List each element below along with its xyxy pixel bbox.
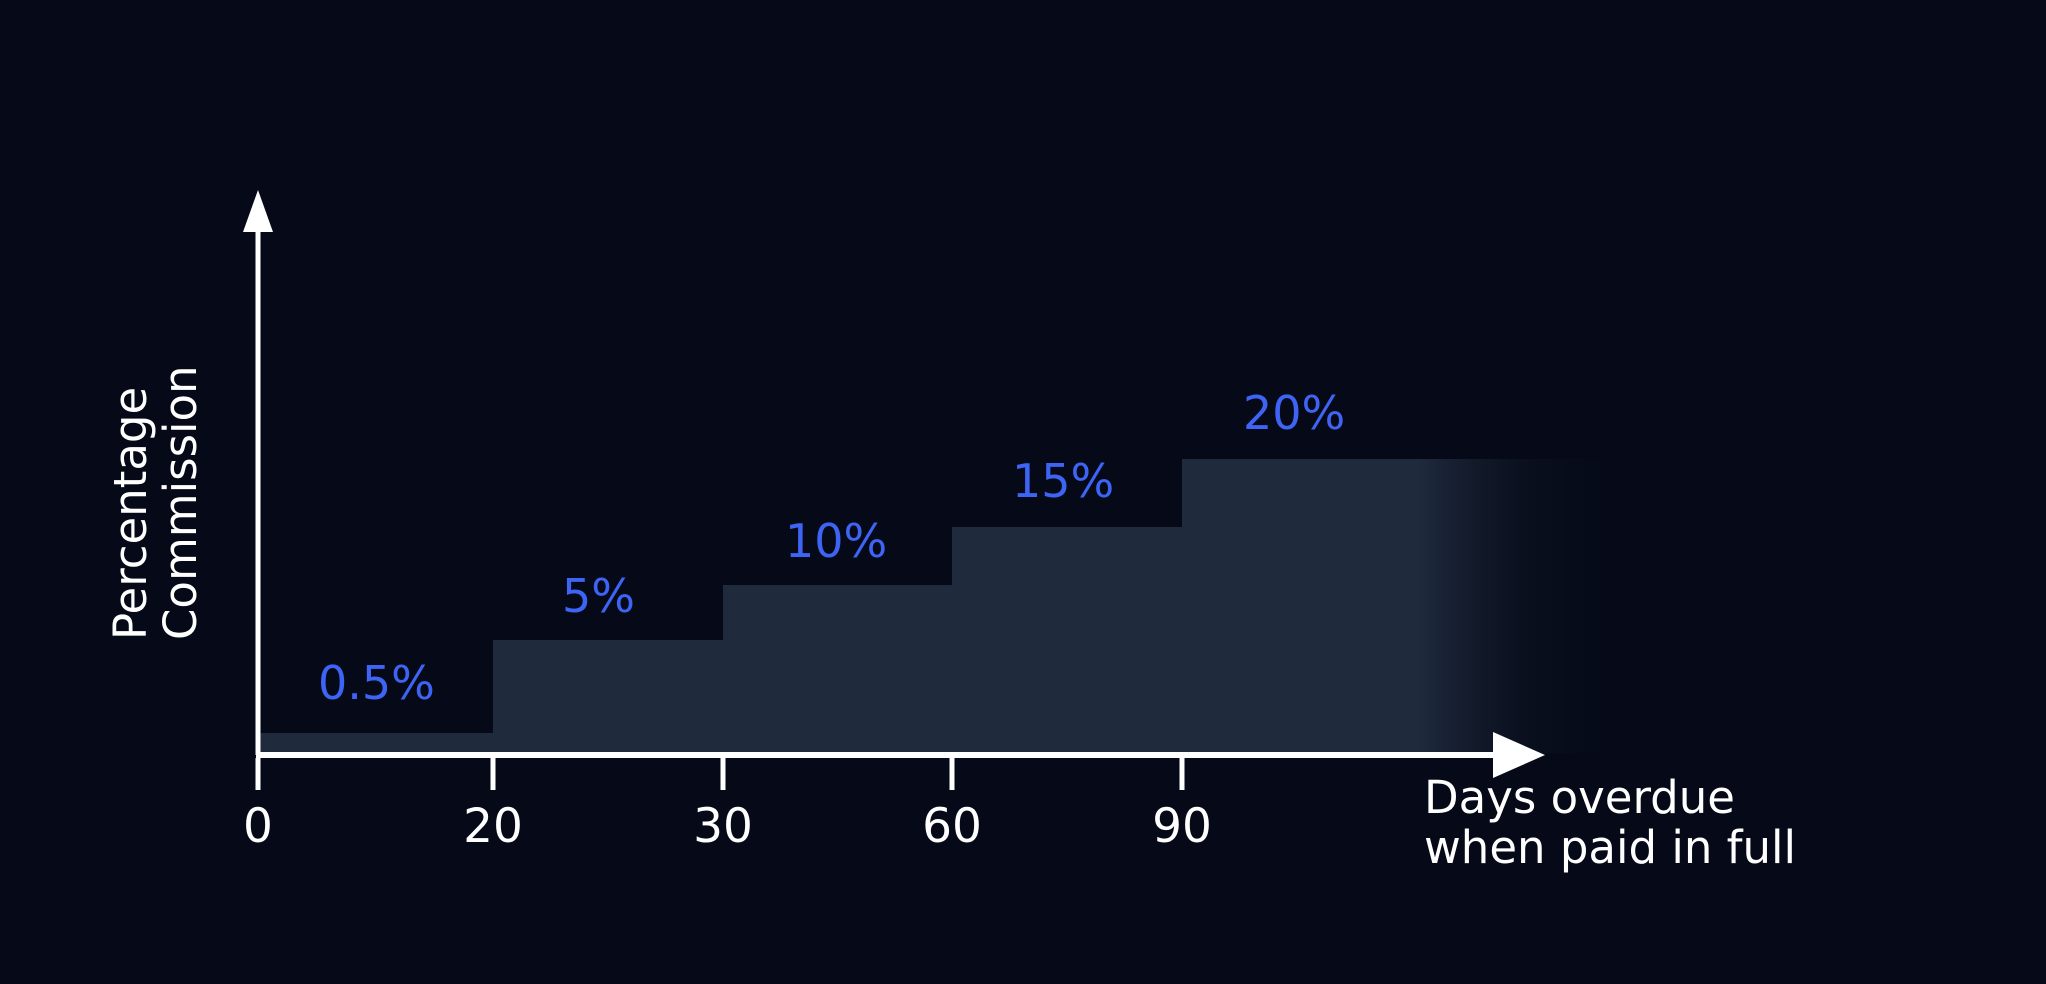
x-tick-label-60: 60	[922, 803, 982, 850]
data-label-step-1: 5%	[562, 573, 635, 619]
y-axis-arrowhead	[243, 190, 273, 232]
data-label-step-0: 0.5%	[318, 660, 435, 706]
x-axis-ticks	[258, 758, 1182, 790]
x-tick-label-0: 0	[243, 803, 273, 850]
x-tick-label-20: 20	[463, 803, 523, 850]
x-axis-title-line-2: when paid in full	[1424, 823, 1796, 873]
data-label-step-2: 10%	[785, 518, 887, 564]
data-label-step-4: 20%	[1243, 390, 1345, 436]
data-label-step-3: 15%	[1012, 458, 1114, 504]
x-tick-label-90: 90	[1152, 803, 1212, 850]
step-area-fill	[260, 459, 1632, 753]
x-axis-title-line-1: Days overdue	[1424, 773, 1796, 823]
chart-container: 0.5% 5% 10% 15% 20% 0 20 30 60 90 Days o…	[0, 0, 2046, 984]
step-area-group	[260, 459, 1632, 753]
y-axis-group	[243, 190, 273, 755]
x-tick-label-30: 30	[693, 803, 753, 850]
y-axis-title: Percentage Commission	[106, 80, 246, 640]
x-axis-title: Days overdue when paid in full	[1424, 773, 1796, 874]
y-axis-title-line-2: Commission	[156, 80, 206, 640]
y-axis-title-line-1: Percentage	[106, 80, 156, 640]
